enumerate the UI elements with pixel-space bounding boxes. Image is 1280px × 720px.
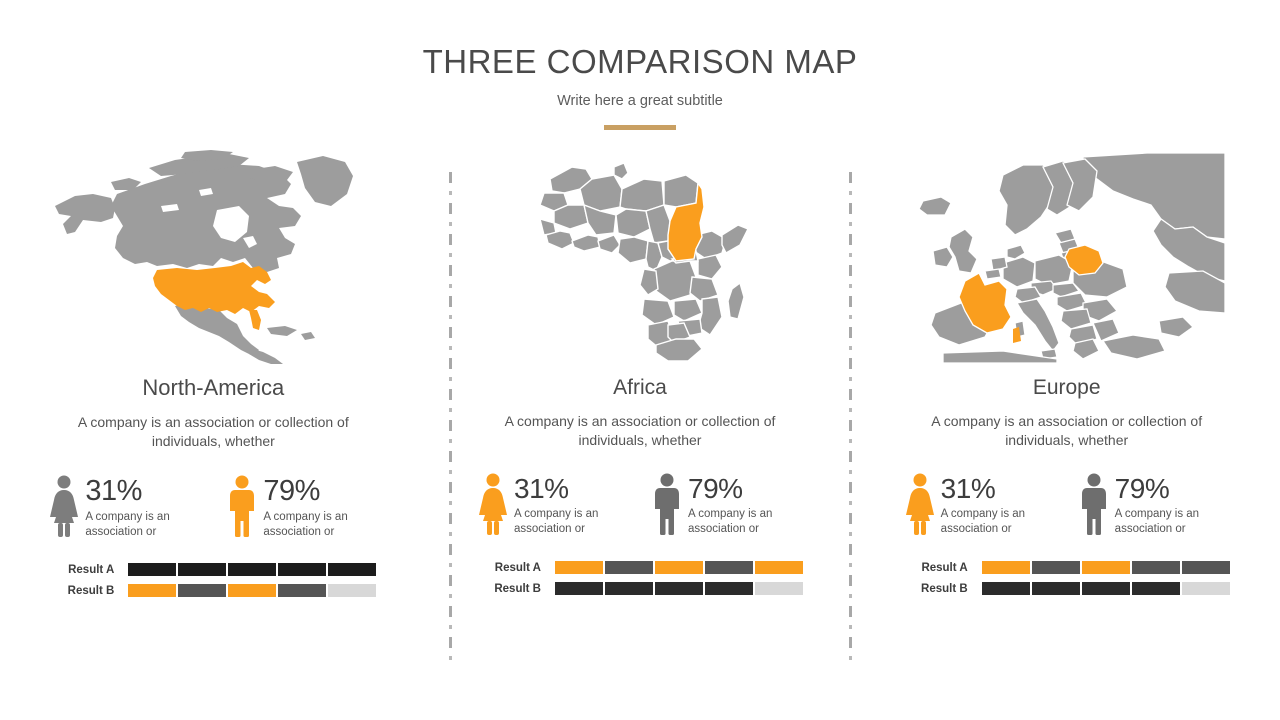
column-north-america: North-America A company is an associatio…: [0, 140, 427, 680]
bar-segment: [278, 584, 326, 597]
result-bar[interactable]: [128, 563, 376, 576]
stat-female-africa: 31% A company is an association or: [478, 473, 628, 537]
stat-note: A company is an association or: [1115, 507, 1225, 537]
stat-note: A company is an association or: [688, 507, 798, 537]
highlight-united-states: [153, 262, 275, 314]
result-label: Result A: [904, 562, 982, 574]
bar-segment: [755, 582, 803, 595]
bar-segment: [705, 561, 753, 574]
male-figure-icon: [227, 475, 257, 537]
result-bar[interactable]: [555, 582, 803, 595]
stat-note: A company is an association or: [263, 510, 373, 540]
stat-percent: 79%: [688, 473, 743, 504]
bar-segment: [1182, 582, 1230, 595]
bar-segment: [128, 563, 176, 576]
male-figure-icon: [1079, 473, 1109, 535]
stat-percent: 31%: [85, 475, 142, 507]
bar-segment: [755, 561, 803, 574]
bar-segment: [178, 563, 226, 576]
column-africa: Africa A company is an association or co…: [427, 140, 854, 680]
stats-row-europe: 31% A company is an association or 79% A…: [905, 473, 1229, 537]
bar-segment: [1032, 561, 1080, 574]
stat-male-europe: 79% A company is an association or: [1079, 473, 1229, 537]
result-label: Result B: [50, 585, 128, 597]
bar-segment: [1132, 561, 1180, 574]
stat-note: A company is an association or: [941, 507, 1051, 537]
stat-percent: 31%: [514, 473, 569, 504]
stat-note: A company is an association or: [85, 510, 195, 540]
stat-male-north-america: 79% A company is an association or: [227, 475, 377, 540]
result-row: Result A: [477, 561, 803, 574]
stat-percent: 79%: [263, 475, 320, 507]
result-label: Result B: [477, 583, 555, 595]
result-row: Result B: [50, 584, 376, 597]
africa-map-svg: [526, 149, 754, 367]
bar-segment: [555, 561, 603, 574]
result-row: Result B: [904, 582, 1230, 595]
africa-map[interactable]: [427, 140, 854, 375]
europe-map-svg: [907, 153, 1227, 363]
region-description-africa: A company is an association or collectio…: [484, 412, 796, 449]
accent-divider: [604, 125, 676, 130]
results-africa: Result A Result B: [477, 561, 803, 603]
bar-segment: [605, 582, 653, 595]
stat-female-europe: 31% A company is an association or: [905, 473, 1055, 537]
bar-segment: [655, 561, 703, 574]
bar-segment: [705, 582, 753, 595]
male-figure-icon: [652, 473, 682, 535]
page-subtitle: Write here a great subtitle: [0, 93, 1280, 109]
bar-segment: [1082, 561, 1130, 574]
bar-segment: [1182, 561, 1230, 574]
female-figure-icon: [478, 473, 508, 535]
stats-row-north-america: 31% A company is an association or 79% A…: [49, 475, 377, 540]
bar-segment: [328, 584, 376, 597]
bar-segment: [128, 584, 176, 597]
bar-segment: [178, 584, 226, 597]
stat-percent: 79%: [1115, 473, 1170, 504]
result-bar[interactable]: [982, 582, 1230, 595]
bar-segment: [605, 561, 653, 574]
bar-segment: [555, 582, 603, 595]
bar-segment: [1132, 582, 1180, 595]
bar-segment: [228, 563, 276, 576]
bar-segment: [228, 584, 276, 597]
stat-female-north-america: 31% A company is an association or: [49, 475, 199, 540]
region-title-africa: Africa: [613, 375, 667, 400]
region-title-north-america: North-America: [142, 375, 284, 401]
bar-segment: [982, 582, 1030, 595]
result-bar[interactable]: [555, 561, 803, 574]
result-row: Result A: [904, 561, 1230, 574]
bar-segment: [1082, 582, 1130, 595]
north-america-map[interactable]: [0, 140, 427, 375]
region-description-europe: A company is an association or collectio…: [911, 412, 1223, 449]
female-figure-icon: [905, 473, 935, 535]
bar-segment: [278, 563, 326, 576]
stats-row-africa: 31% A company is an association or 79% A…: [478, 473, 802, 537]
results-europe: Result A Result B: [904, 561, 1230, 603]
stat-male-africa: 79% A company is an association or: [652, 473, 802, 537]
page-title: THREE COMPARISON MAP: [0, 44, 1280, 80]
result-label: Result A: [477, 562, 555, 574]
region-title-europe: Europe: [1033, 375, 1101, 400]
comparison-columns: North-America A company is an associatio…: [0, 140, 1280, 680]
europe-map[interactable]: [853, 140, 1280, 375]
bar-segment: [982, 561, 1030, 574]
bar-segment: [655, 582, 703, 595]
results-north-america: Result A Result B: [50, 563, 376, 605]
stat-percent: 31%: [941, 473, 996, 504]
column-europe: Europe A company is an association or co…: [853, 140, 1280, 680]
bar-segment: [328, 563, 376, 576]
result-row: Result B: [477, 582, 803, 595]
result-bar[interactable]: [982, 561, 1230, 574]
result-label: Result B: [904, 583, 982, 595]
result-label: Result A: [50, 564, 128, 576]
bar-segment: [1032, 582, 1080, 595]
result-row: Result A: [50, 563, 376, 576]
female-figure-icon: [49, 475, 79, 537]
result-bar[interactable]: [128, 584, 376, 597]
north-america-map-svg: [53, 150, 373, 365]
slide-header: THREE COMPARISON MAP Write here a great …: [0, 0, 1280, 130]
region-description-north-america: A company is an association or collectio…: [57, 413, 369, 450]
stat-note: A company is an association or: [514, 507, 624, 537]
